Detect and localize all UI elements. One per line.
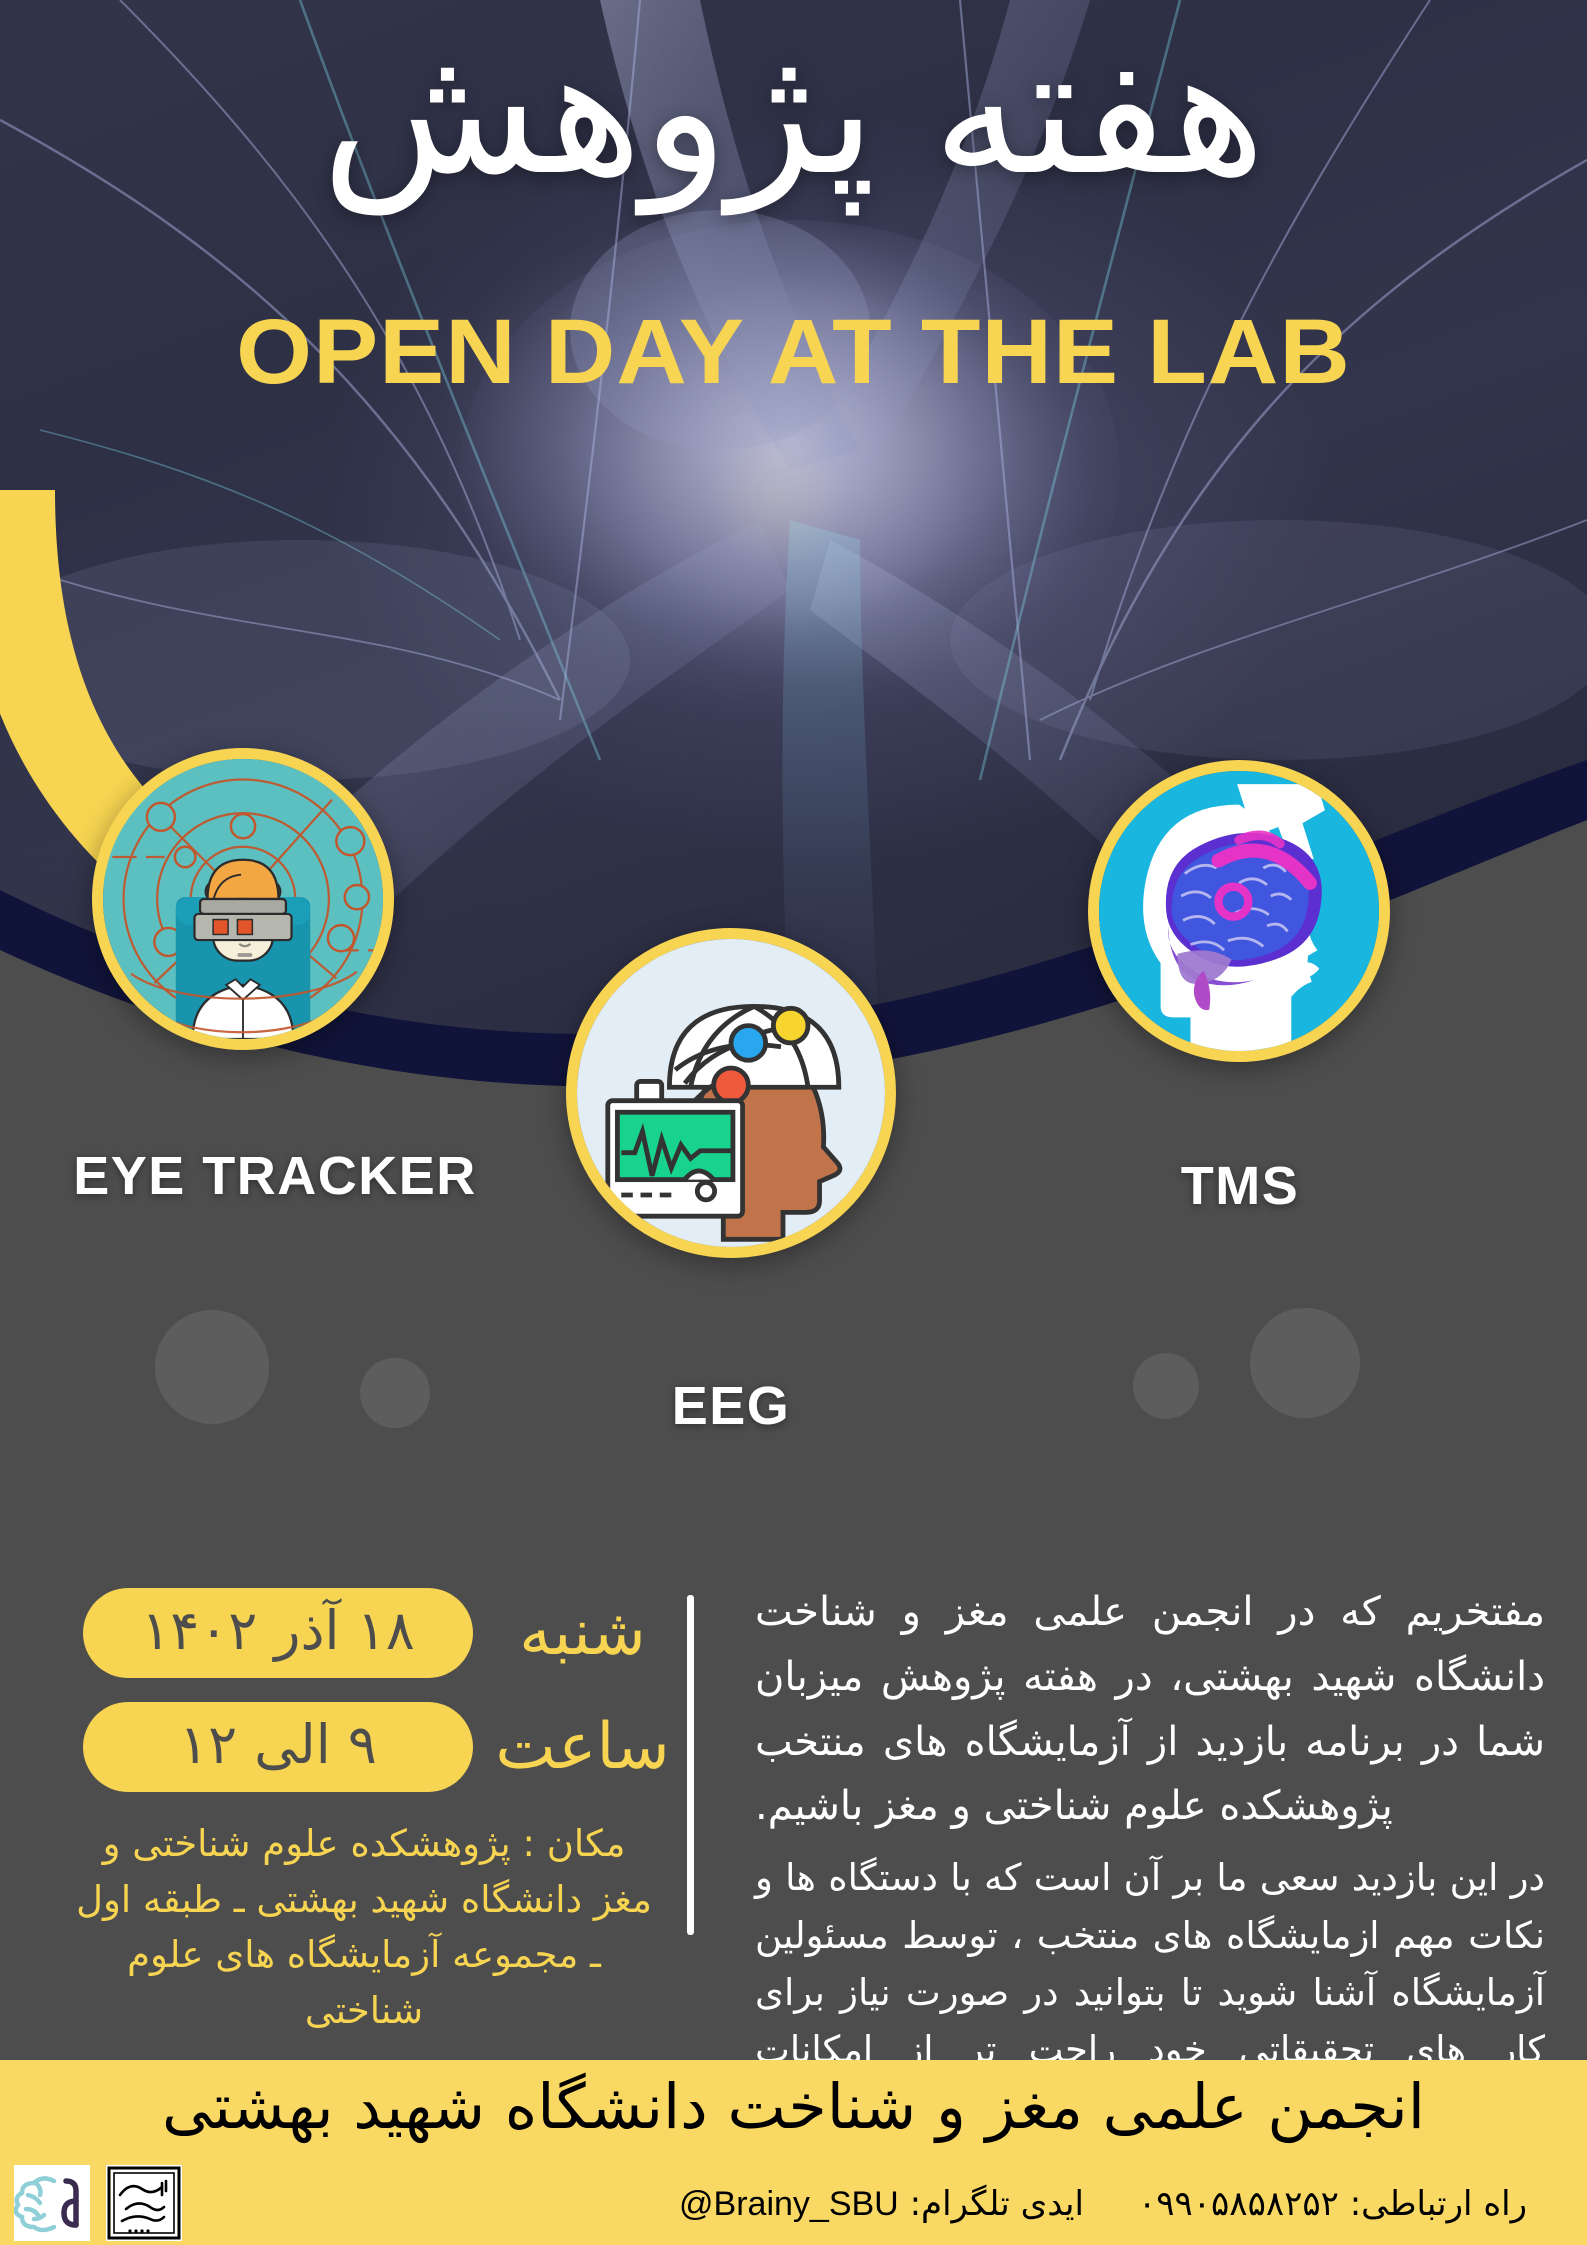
badge-label-eye-tracker: EYE TRACKER (60, 1145, 490, 1207)
event-time-pill: ۹ الی ۱۲ (83, 1702, 473, 1792)
brainy-sbu-logo (14, 2165, 90, 2241)
telegram-label: ایدی تلگرام: (910, 2184, 1084, 2224)
eeg-icon (577, 939, 885, 1247)
footer-logos (14, 2165, 182, 2241)
body-text: مفتخریم که در انجمن علمی مغز و شناخت دان… (755, 1580, 1545, 2136)
poster-root: هفته پژوهش OPEN DAY AT THE LAB (0, 0, 1587, 2245)
event-date-pill: ۱۸ آذر ۱۴۰۲ (83, 1588, 473, 1678)
contact-phone: ۰۹۹۰۵۸۵۸۲۵۲ (1138, 2184, 1339, 2224)
eye-tracker-icon (103, 759, 383, 1039)
decorative-circle (155, 1310, 269, 1424)
contact-label: راه ارتباطی: (1350, 2184, 1527, 2224)
decorative-circle (360, 1358, 430, 1428)
tms-icon (1099, 771, 1379, 1051)
column-divider (687, 1595, 694, 1935)
event-details: شنبه ۱۸ آذر ۱۴۰۲ ساعت ۹ الی ۱۲ مکان : پژ… (70, 1588, 670, 2038)
badge-tms[interactable] (1088, 760, 1390, 1062)
page-title-persian: هفته پژوهش (0, 22, 1587, 200)
brain-logo-icon (14, 2165, 90, 2241)
sbu-logo-icon (106, 2165, 182, 2241)
badge-eeg[interactable] (566, 928, 896, 1258)
badge-label-tms: TMS (1080, 1155, 1400, 1217)
badge-label-eeg: EEG (566, 1375, 896, 1437)
footer-contact: راه ارتباطی: ۰۹۹۰۵۸۵۸۲۵۲ ایدی تلگرام: @B… (679, 2184, 1527, 2224)
decorative-circle (1133, 1353, 1199, 1419)
event-day-row: شنبه ۱۸ آذر ۱۴۰۲ (70, 1588, 670, 1678)
event-day-label: شنبه (495, 1601, 670, 1665)
event-time-label: ساعت (495, 1715, 670, 1779)
body-paragraph-1: مفتخریم که در انجمن علمی مغز و شناخت دان… (755, 1580, 1545, 1839)
telegram-handle[interactable]: @Brainy_SBU (679, 2185, 899, 2223)
sbu-university-logo (106, 2165, 182, 2241)
decorative-circle (1250, 1308, 1360, 1418)
event-location: مکان : پژوهشکده علوم شناختی و مغز دانشگا… (70, 1816, 670, 2038)
footer-organization: انجمن علمی مغز و شناخت دانشگاه شهید بهشت… (0, 2073, 1587, 2141)
page-title-english: OPEN DAY AT THE LAB (0, 300, 1587, 405)
event-time-row: ساعت ۹ الی ۱۲ (70, 1702, 670, 1792)
badge-eye-tracker[interactable] (92, 748, 394, 1050)
